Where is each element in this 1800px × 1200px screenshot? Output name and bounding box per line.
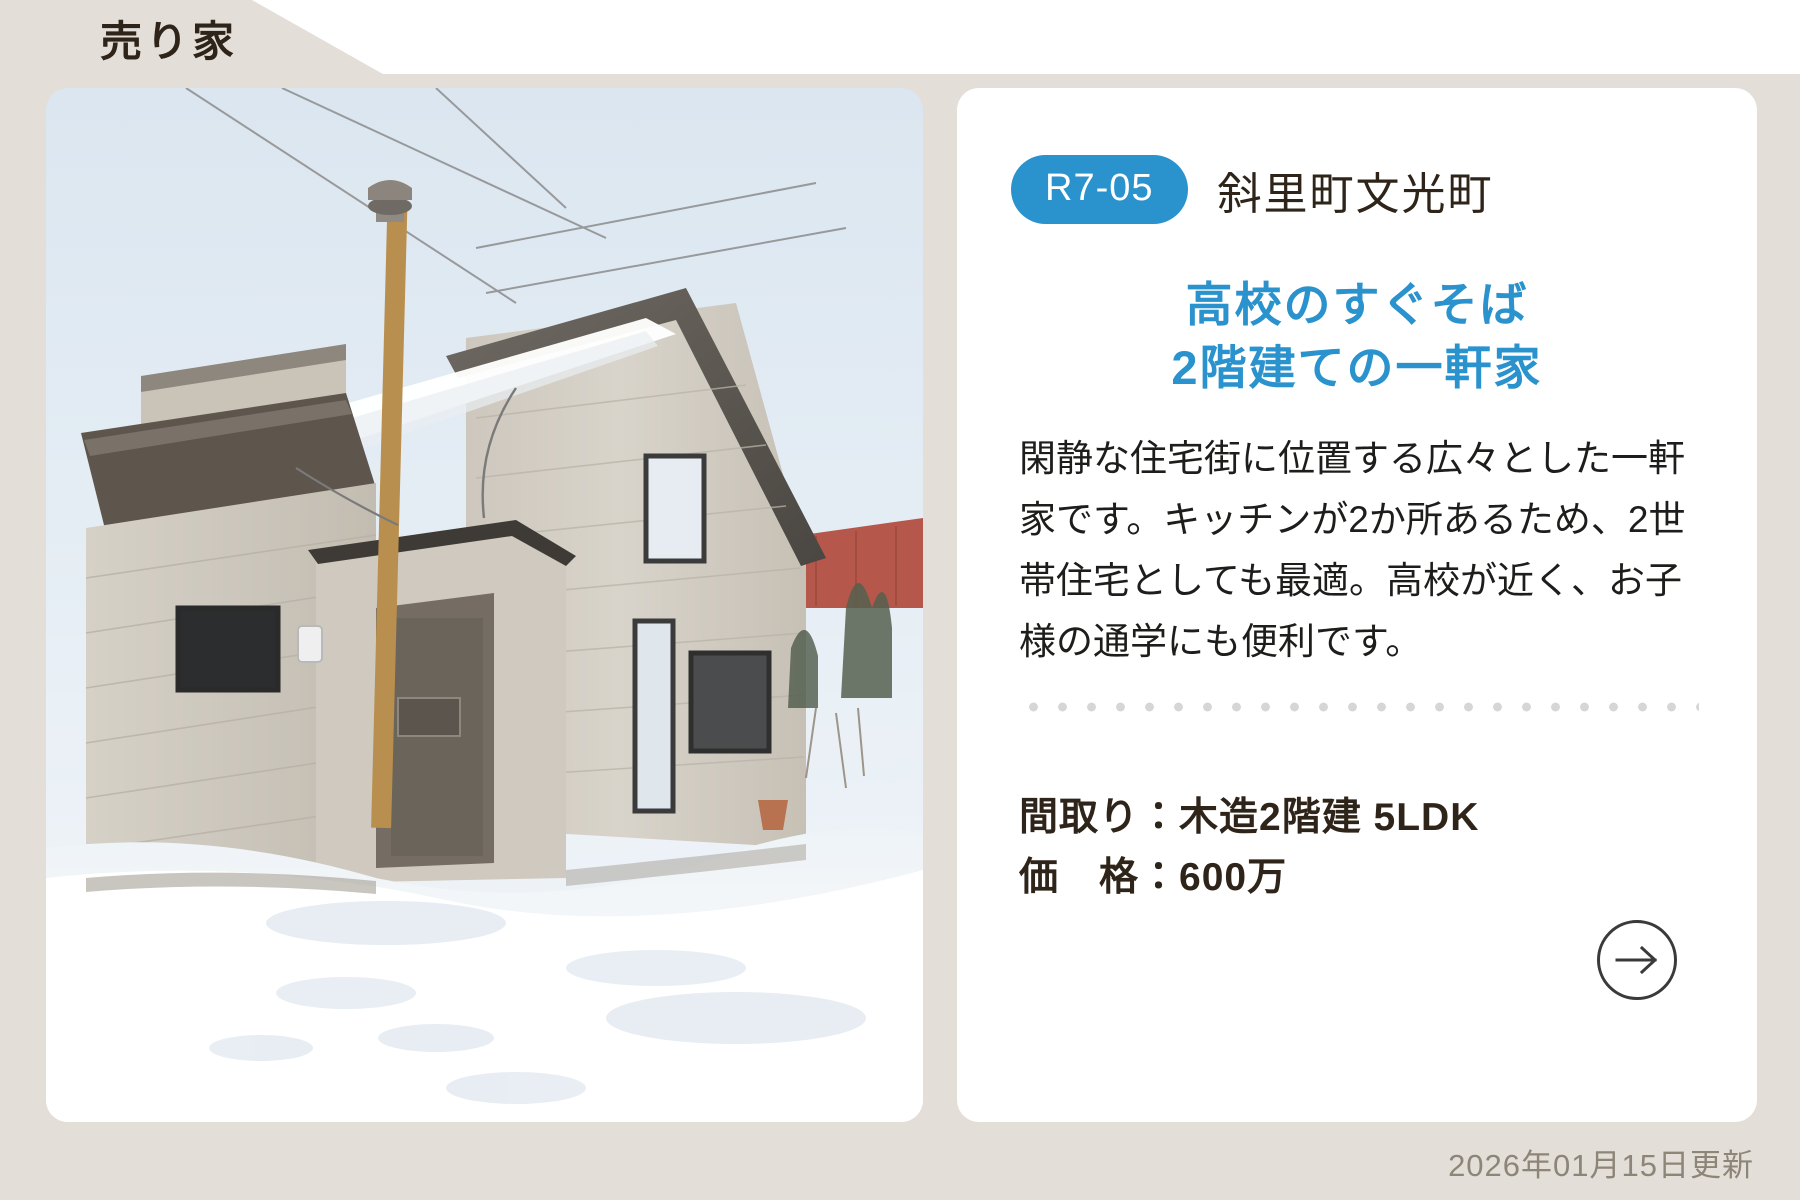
arrow-right-icon <box>1615 945 1659 975</box>
status-badge: R7-05 <box>1011 155 1188 224</box>
listing-page: 売り家 <box>0 0 1800 1200</box>
updated-timestamp: 2026年01月15日更新 <box>1448 1140 1754 1185</box>
next-listing-button[interactable] <box>1597 920 1677 1000</box>
listing-description: 閑静な住宅街に位置する広々とした一軒家です。キッチンが2か所あるため、2世帯住宅… <box>1019 428 1699 672</box>
listing-specs: 間取り：木造2階建 5LDK 価 格：600万 <box>1019 788 1719 909</box>
page-title: 売り家 <box>100 8 238 69</box>
listing-headline: 高校のすぐそば 2階建ての一軒家 <box>957 273 1757 400</box>
property-photo[interactable] <box>46 88 923 1122</box>
headline-line-2: 2階建ての一軒家 <box>957 336 1757 399</box>
spec-layout: 間取り：木造2階建 5LDK <box>1019 788 1719 848</box>
house-exterior-winter-photo <box>46 88 923 1122</box>
location-title: 斜里町文光町 <box>1218 158 1494 222</box>
listing-info-card: R7-05 斜里町文光町 高校のすぐそば 2階建ての一軒家 閑静な住宅街に位置す… <box>957 88 1757 1122</box>
badge-row: R7-05 斜里町文光町 <box>1011 155 1494 224</box>
spec-price: 価 格：600万 <box>1019 848 1719 908</box>
dotted-divider <box>1019 700 1699 714</box>
headline-line-1: 高校のすぐそば <box>957 273 1757 336</box>
